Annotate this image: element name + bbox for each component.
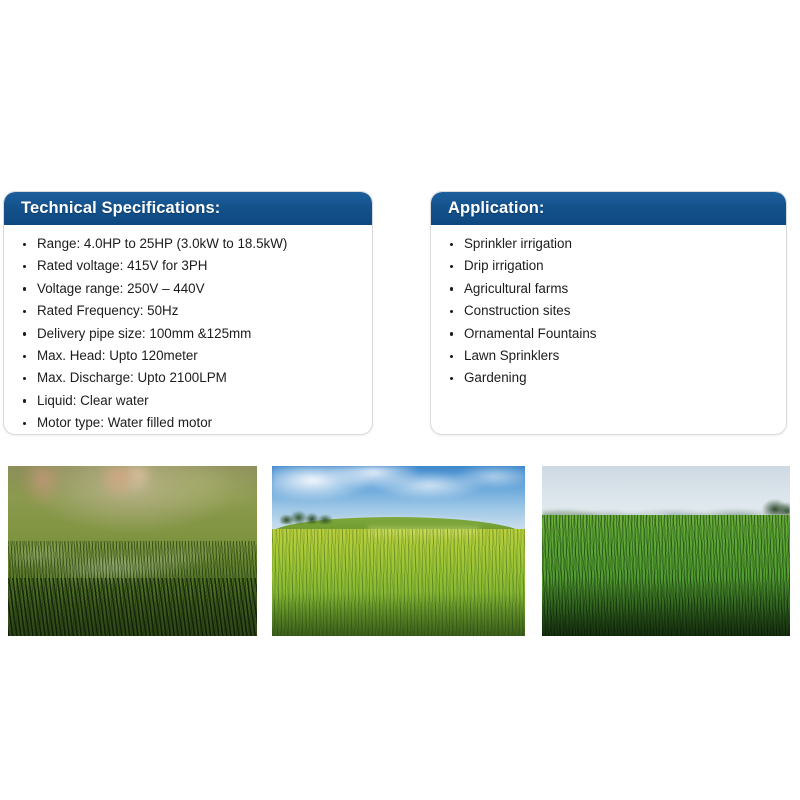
field-shadow-layer [272, 592, 525, 636]
technical-specifications-title: Technical Specifications: [21, 200, 220, 217]
bullet-dot-icon [23, 265, 26, 268]
grass-shadow-layer [8, 578, 257, 636]
bullet-dot-icon [23, 377, 26, 380]
bullet-dot-icon [450, 310, 453, 313]
list-item-label: Agricultural farms [464, 281, 568, 296]
list-item-label: Motor type: Water filled motor [37, 415, 212, 430]
list-item: Rated Frequency: 50Hz [22, 300, 362, 322]
list-item: Max. Head: Upto 120meter [22, 345, 362, 367]
bullet-dot-icon [23, 355, 26, 358]
bullet-dot-icon [23, 399, 26, 402]
tree-line-layer [280, 510, 336, 524]
photo-lawn-sprinkler-closeup [8, 466, 257, 636]
list-item: Motor type: Water filled motor [22, 412, 362, 434]
bullet-dot-icon [450, 355, 453, 358]
list-item: Max. Discharge: Upto 2100LPM [22, 367, 362, 389]
list-item: Rated voltage: 415V for 3PH [22, 255, 362, 277]
photo-green-field-blue-sky [272, 466, 525, 636]
list-item-label: Delivery pipe size: 100mm &125mm [37, 326, 251, 341]
list-item-label: Rated Frequency: 50Hz [37, 303, 178, 318]
technical-specifications-body: Range: 4.0HP to 25HP (3.0kW to 18.5kW) R… [4, 225, 372, 435]
bullet-dot-icon [450, 332, 453, 335]
technical-specifications-header: Technical Specifications: [4, 192, 372, 225]
application-body: Sprinkler irrigation Drip irrigation Agr… [431, 225, 786, 390]
bullet-dot-icon [23, 422, 26, 425]
list-item-label: Liquid: Clear water [37, 393, 149, 408]
list-item: Gardening [449, 367, 776, 389]
list-item-label: Max. Head: Upto 120meter [37, 348, 198, 363]
list-item: Construction sites [449, 300, 776, 322]
bullet-dot-icon [450, 377, 453, 380]
list-item-label: Range: 4.0HP to 25HP (3.0kW to 18.5kW) [37, 236, 287, 251]
photo-sprinkler-irrigation-crop-field [542, 466, 790, 636]
list-item: Ornamental Fountains [449, 323, 776, 345]
list-item: Agricultural farms [449, 278, 776, 300]
application-header: Application: [431, 192, 786, 225]
list-item: Sprinkler irrigation [449, 233, 776, 255]
list-item-label: Voltage range: 250V – 440V [37, 281, 205, 296]
list-item-label: Gardening [464, 370, 527, 385]
list-item-label: Drip irrigation [464, 258, 544, 273]
photo-content [542, 466, 790, 636]
list-item: Liquid: Clear water [22, 390, 362, 412]
list-item-label: Construction sites [464, 303, 570, 318]
list-item: Lawn Sprinklers [449, 345, 776, 367]
crop-shadow-layer [542, 578, 790, 636]
list-item: Range: 4.0HP to 25HP (3.0kW to 18.5kW) [22, 233, 362, 255]
photo-content [272, 466, 525, 636]
bullet-dot-icon [23, 287, 26, 290]
application-card: Application: Sprinkler irrigation Drip i… [430, 191, 787, 435]
bullet-dot-icon [450, 287, 453, 290]
list-item: Delivery pipe size: 100mm &125mm [22, 323, 362, 345]
list-item-label: Sprinkler irrigation [464, 236, 572, 251]
bullet-dot-icon [450, 243, 453, 246]
list-item-label: Lawn Sprinklers [464, 348, 559, 363]
list-item: Drip irrigation [449, 255, 776, 277]
list-item-label: Rated voltage: 415V for 3PH [37, 258, 207, 273]
application-list: Sprinkler irrigation Drip irrigation Agr… [449, 233, 776, 390]
technical-specifications-card: Technical Specifications: Range: 4.0HP t… [3, 191, 373, 435]
bullet-dot-icon [23, 243, 26, 246]
list-item-label: Ornamental Fountains [464, 326, 597, 341]
bullet-dot-icon [23, 310, 26, 313]
bullet-dot-icon [450, 265, 453, 268]
list-item: Voltage range: 250V – 440V [22, 278, 362, 300]
technical-specifications-list: Range: 4.0HP to 25HP (3.0kW to 18.5kW) R… [22, 233, 362, 435]
list-item-label: Max. Discharge: Upto 2100LPM [37, 370, 227, 385]
application-title: Application: [448, 200, 545, 217]
photo-content [8, 466, 257, 636]
bullet-dot-icon [23, 332, 26, 335]
